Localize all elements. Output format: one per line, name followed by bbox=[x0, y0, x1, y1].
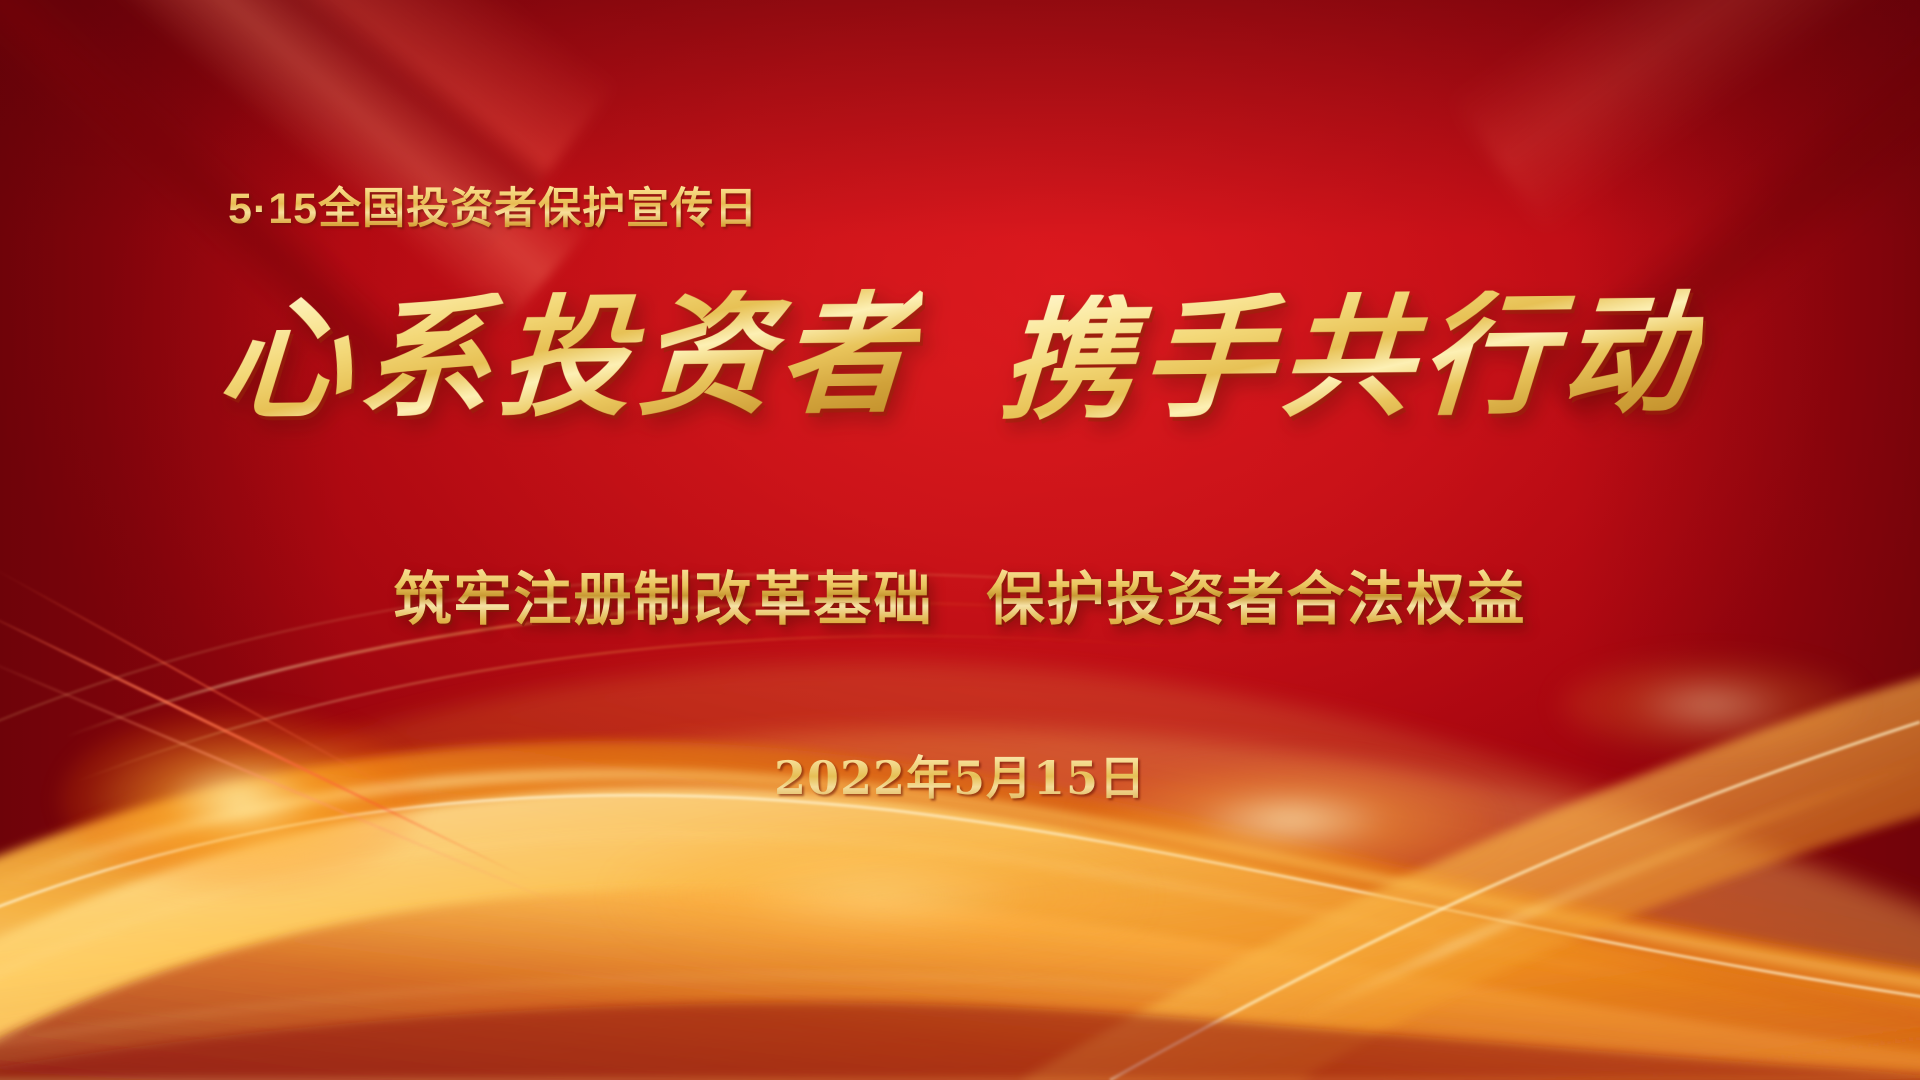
event-date-label: 2022年5月15日 bbox=[774, 742, 1146, 808]
headline-part-2: 携手共行动 bbox=[997, 288, 1705, 427]
headline-part-1: 心系投资者 bbox=[214, 288, 922, 427]
subtitle-block: 筑牢注册制改革基础 保护投资者合法权益 bbox=[0, 552, 1920, 636]
headline-block: 心系投资者 携手共行动 bbox=[0, 292, 1920, 424]
subtitle-left: 筑牢注册制改革基础 bbox=[394, 552, 934, 636]
subtitle-right: 保护投资者合法权益 bbox=[986, 552, 1526, 636]
date-block: 2022年5月15日 bbox=[0, 742, 1920, 808]
event-eyebrow-label: 5·15全国投资者保护宣传日 bbox=[228, 174, 758, 236]
poster-canvas: 5·15全国投资者保护宣传日 心系投资者 携手共行动 筑牢注册制改革基础 保护投… bbox=[0, 0, 1920, 1080]
poster-content: 5·15全国投资者保护宣传日 心系投资者 携手共行动 筑牢注册制改革基础 保护投… bbox=[0, 0, 1920, 1080]
